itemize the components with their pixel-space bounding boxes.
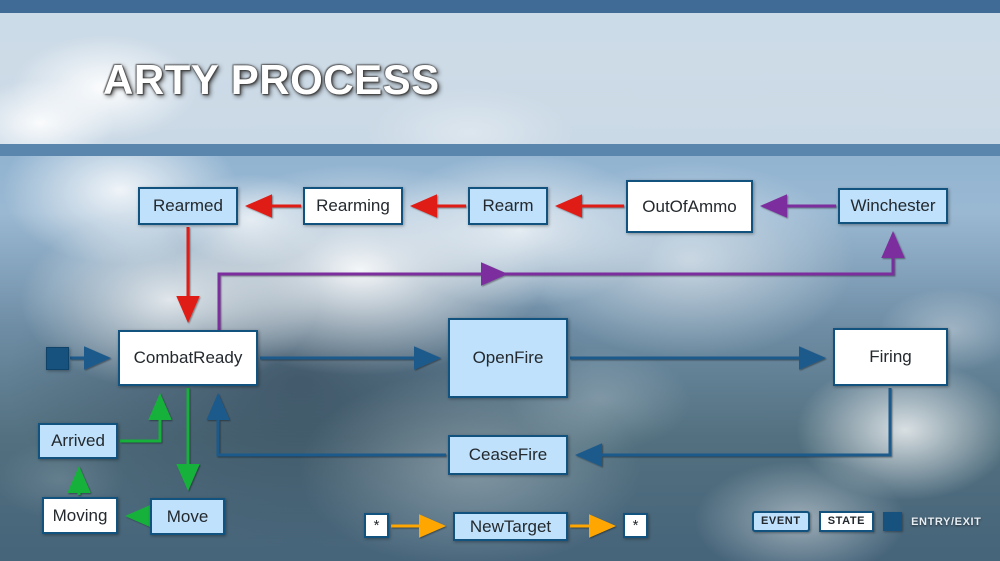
node-moving[interactable]: Moving — [42, 497, 118, 534]
node-label: CeaseFire — [469, 445, 547, 465]
node-label: OutOfAmmo — [642, 197, 736, 217]
legend-event-swatch: EVENT — [752, 511, 810, 532]
node-move[interactable]: Move — [150, 498, 225, 535]
node-label: Rearming — [316, 196, 390, 216]
banner-strip-top — [0, 0, 1000, 13]
node-label: * — [374, 517, 380, 534]
node-label: * — [633, 517, 639, 534]
node-rearm[interactable]: Rearm — [468, 187, 548, 225]
page-title: ARTY PROCESS — [103, 56, 440, 104]
legend: EVENT STATE ENTRY/EXIT — [752, 511, 982, 532]
entry-exit-marker — [46, 347, 69, 370]
node-label: Rearmed — [153, 196, 223, 216]
node-rearmed[interactable]: Rearmed — [138, 187, 238, 225]
diagram-canvas: ARTY PROCESS — [0, 0, 1000, 561]
legend-entryexit-label: ENTRY/EXIT — [911, 516, 981, 528]
legend-entryexit-swatch — [883, 512, 902, 531]
node-openfire[interactable]: OpenFire — [448, 318, 568, 398]
node-label: NewTarget — [470, 517, 551, 537]
node-label: Winchester — [850, 196, 935, 216]
node-label: CombatReady — [134, 348, 243, 368]
node-outofammo[interactable]: OutOfAmmo — [626, 180, 753, 233]
legend-event-label: EVENT — [761, 515, 801, 527]
node-label: Rearm — [482, 196, 533, 216]
node-combatready[interactable]: CombatReady — [118, 330, 258, 386]
node-label: OpenFire — [473, 348, 544, 368]
node-label: Move — [167, 507, 209, 527]
legend-state-label: STATE — [828, 515, 865, 527]
node-arrived[interactable]: Arrived — [38, 423, 118, 459]
node-firing[interactable]: Firing — [833, 328, 948, 386]
node-newtarget[interactable]: NewTarget — [453, 512, 568, 541]
node-rearming[interactable]: Rearming — [303, 187, 403, 225]
node-star-left[interactable]: * — [364, 513, 389, 538]
legend-state-swatch: STATE — [819, 511, 874, 532]
node-label: Arrived — [51, 431, 105, 451]
node-ceasefire[interactable]: CeaseFire — [448, 435, 568, 475]
node-label: Moving — [53, 506, 108, 526]
node-star-right[interactable]: * — [623, 513, 648, 538]
banner-strip-bottom — [0, 144, 1000, 156]
header-banner: ARTY PROCESS — [0, 0, 1000, 156]
node-label: Firing — [869, 347, 912, 367]
node-winchester[interactable]: Winchester — [838, 188, 948, 224]
